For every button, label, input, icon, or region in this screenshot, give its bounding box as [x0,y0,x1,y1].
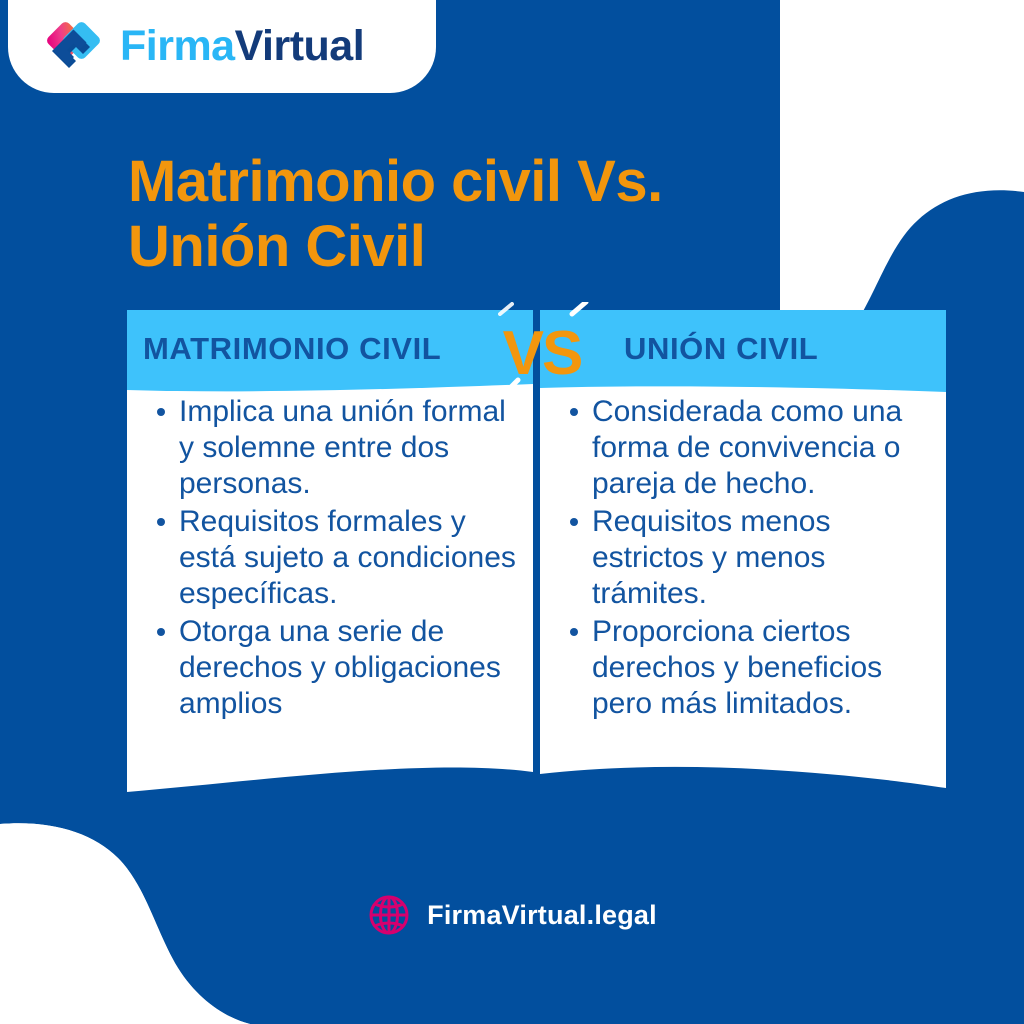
comparison-table: MATRIMONIO CIVIL Implica una unión forma… [127,310,946,810]
comparison-column-matrimonio-civil: MATRIMONIO CIVIL Implica una unión forma… [127,310,533,810]
brand-wordmark-firma: Firma [120,22,235,70]
firmavirtual-diamond-logo-icon [40,17,106,77]
brand-wordmark-virtual: Virtual [235,22,365,70]
bullet-list-left: Implica una unión formal y solemne entre… [127,394,533,724]
infographic-poster: FirmaVirtual Matrimonio civil Vs. Unión … [0,0,1024,1024]
list-item: Requisitos menos estrictos y menos trámi… [570,504,932,612]
list-item: Otorga una serie de derechos y obligacio… [157,614,519,722]
brand-wordmark: FirmaVirtual [120,25,364,68]
page-title-line-1: Matrimonio civil Vs. [128,150,888,215]
list-item: Proporciona ciertos derechos y beneficio… [570,614,932,722]
list-item: Implica una unión formal y solemne entre… [157,394,519,502]
brand-logo-pill[interactable]: FirmaVirtual [8,0,436,93]
globe-icon [367,893,411,937]
list-item: Considerada como una forma de convivenci… [570,394,932,502]
footer: FirmaVirtual.legal [0,893,1024,937]
bullet-list-right: Considerada como una forma de convivenci… [540,394,946,724]
comparison-column-union-civil: UNIÓN CIVIL Considerada como una forma d… [540,310,946,810]
page-title: Matrimonio civil Vs. Unión Civil [128,150,888,280]
column-header-right: UNIÓN CIVIL [540,310,946,388]
list-item: Requisitos formales y está sujeto a cond… [157,504,519,612]
column-header-right-label: UNIÓN CIVIL [624,331,818,367]
column-header-left-label: MATRIMONIO CIVIL [143,331,441,367]
page-title-line-2: Unión Civil [128,215,888,280]
column-header-left: MATRIMONIO CIVIL [127,310,533,388]
footer-url-label: FirmaVirtual.legal [427,900,657,931]
